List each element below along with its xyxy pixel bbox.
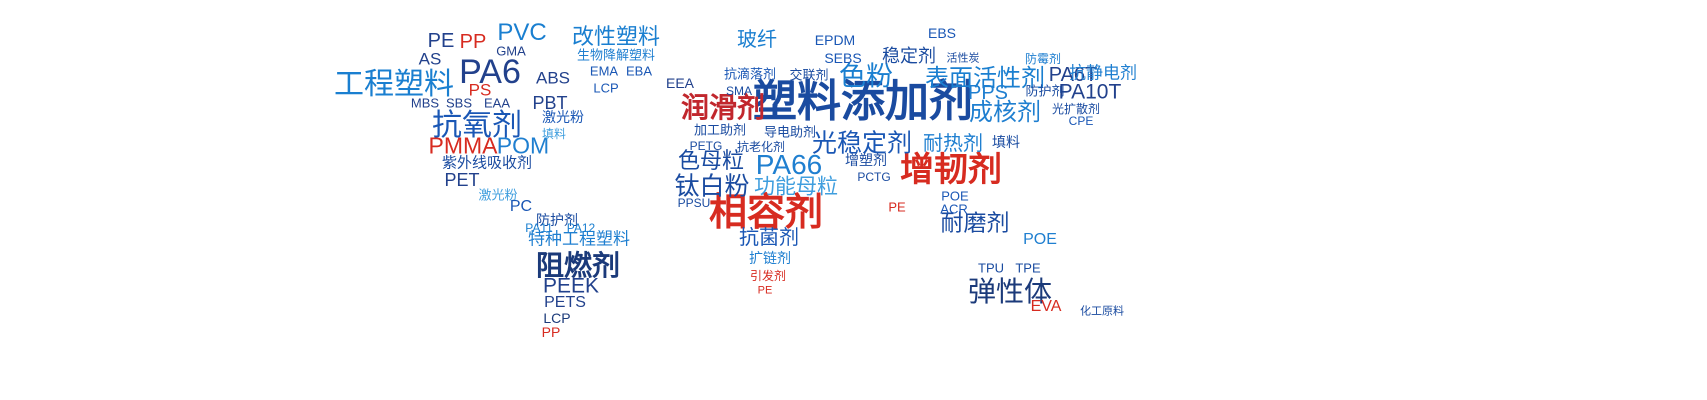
word-cloud-term[interactable]: 功能母粒	[754, 177, 838, 198]
word-cloud-term[interactable]: 抗静电剂	[1069, 66, 1137, 83]
word-cloud-term[interactable]: EEA	[666, 76, 694, 90]
word-cloud-term[interactable]: 玻纤	[737, 29, 777, 49]
word-cloud-term[interactable]: 紫外线吸收剂	[442, 156, 532, 171]
word-cloud-term[interactable]: SMA	[726, 85, 752, 97]
word-cloud-term[interactable]: LCP	[593, 82, 618, 95]
word-cloud-term[interactable]: ACR	[940, 203, 967, 216]
word-cloud-term[interactable]: 填料	[542, 128, 566, 140]
word-cloud-term[interactable]: EBA	[626, 65, 652, 78]
word-cloud-term[interactable]: 稳定剂	[882, 48, 936, 66]
word-cloud-term[interactable]: EVA	[1031, 299, 1062, 315]
word-cloud-term[interactable]: 导电助剂	[764, 127, 816, 140]
word-cloud-term[interactable]: 耐热剂	[923, 133, 983, 153]
word-cloud-term[interactable]: 抗老化剂	[737, 141, 785, 153]
word-cloud-term[interactable]: PE	[428, 31, 455, 51]
word-cloud-term[interactable]: AS	[419, 51, 442, 68]
word-cloud-term[interactable]: 改性塑料	[572, 27, 660, 49]
word-cloud-term[interactable]: 活性炭	[947, 53, 980, 64]
word-cloud-term[interactable]: 激光粉	[542, 111, 584, 125]
word-cloud-term[interactable]: PET	[444, 171, 479, 189]
word-cloud-term[interactable]: EMA	[590, 65, 618, 78]
word-cloud-term[interactable]: POE	[1023, 232, 1057, 248]
word-cloud-term[interactable]: 防霉剂	[1025, 53, 1061, 65]
word-cloud-canvas: 塑料添加剂相容剂增韧剂工程塑料抗氧剂PA6润滑剂表面活性剂光稳定剂阻燃剂弹性体P…	[0, 0, 1707, 400]
word-cloud-term[interactable]: 加工助剂	[694, 125, 746, 138]
word-cloud-term[interactable]: PETG	[690, 140, 723, 152]
word-cloud-term[interactable]: PE	[888, 201, 905, 214]
word-cloud-term[interactable]: PPSU	[678, 197, 711, 209]
word-cloud-term[interactable]: 润滑剂	[681, 94, 765, 122]
word-cloud-term[interactable]: MBS	[411, 97, 439, 110]
word-cloud-term[interactable]: PCTG	[857, 171, 890, 183]
word-cloud-term[interactable]: PC	[510, 199, 532, 215]
word-cloud-term[interactable]: TPU	[978, 262, 1004, 275]
word-cloud-term[interactable]: 引发剂	[750, 270, 786, 282]
word-cloud-term[interactable]: PPS	[968, 83, 1008, 103]
word-cloud-term[interactable]: PVC	[497, 21, 546, 45]
word-cloud-term[interactable]: EAA	[484, 97, 510, 110]
word-cloud-term[interactable]: EBS	[928, 26, 956, 40]
word-cloud-term[interactable]: 光稳定剂	[812, 131, 912, 156]
word-cloud-term[interactable]: 色母粒	[678, 151, 744, 173]
word-cloud-term[interactable]: PP	[542, 325, 561, 339]
word-cloud-term[interactable]: EPDM	[815, 33, 855, 47]
word-cloud-term[interactable]: 防护剂	[1025, 86, 1064, 99]
word-cloud-term[interactable]: SBS	[446, 97, 472, 110]
word-cloud-term[interactable]: 抗滴落剂	[724, 69, 776, 82]
word-cloud-term[interactable]: ABS	[536, 70, 570, 87]
word-cloud-term[interactable]: 增韧剂	[900, 153, 1002, 187]
word-cloud-term[interactable]: 化工原料	[1080, 306, 1124, 317]
word-cloud-term[interactable]: PA12	[567, 222, 595, 234]
word-cloud-term[interactable]: 生物降解塑料	[577, 50, 655, 63]
word-cloud-term[interactable]: 增塑剂	[845, 154, 887, 168]
word-cloud-term[interactable]: PE	[758, 286, 773, 297]
word-cloud-term[interactable]: 交联剂	[789, 70, 828, 83]
word-cloud-term[interactable]: GMA	[496, 45, 526, 58]
word-cloud-term[interactable]: 填料	[992, 136, 1020, 150]
word-cloud-term[interactable]: PETS	[544, 295, 586, 311]
word-cloud-term[interactable]: PA11	[525, 222, 553, 234]
word-cloud-term[interactable]: PP	[460, 32, 487, 52]
word-cloud-term[interactable]: TPE	[1015, 262, 1040, 275]
word-cloud-term[interactable]: 抗菌剂	[739, 227, 799, 247]
word-cloud-term[interactable]: 扩链剂	[749, 252, 791, 266]
word-cloud-term[interactable]: SEBS	[824, 51, 861, 65]
word-cloud-term[interactable]: LCP	[543, 311, 570, 325]
word-cloud-term[interactable]: CPE	[1069, 115, 1094, 127]
word-cloud-term[interactable]: 钛白粉	[674, 174, 749, 199]
word-cloud-term[interactable]: 色粉	[839, 64, 893, 91]
